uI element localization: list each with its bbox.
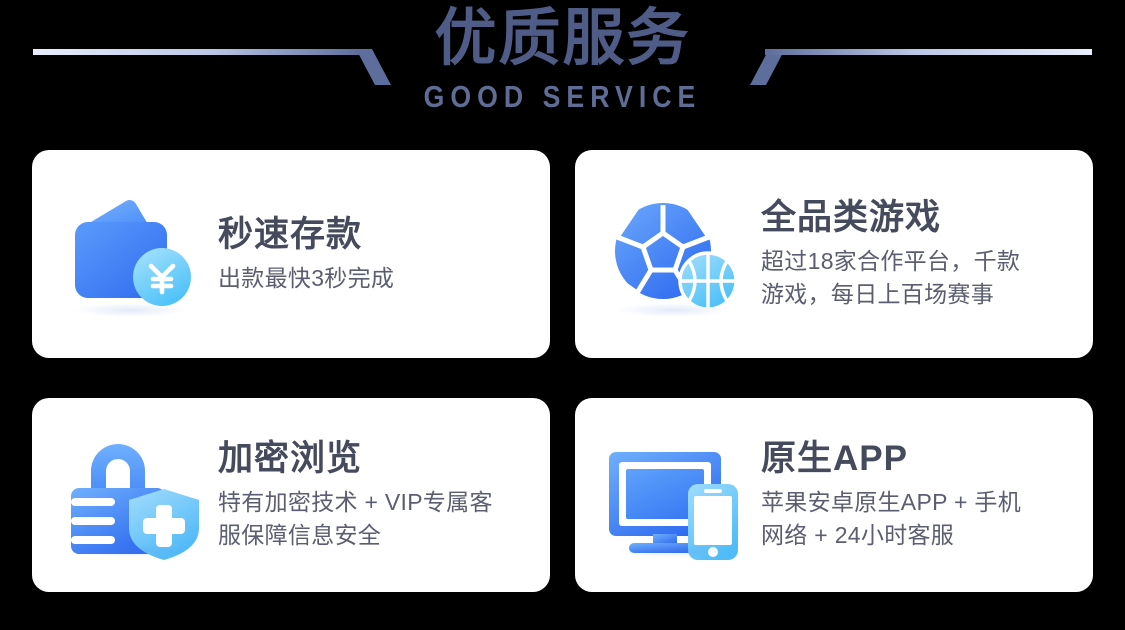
card-title: 加密浏览 [218, 438, 536, 480]
card-description: 苹果安卓原生APP + 手机 网络 + 24小时客服 [761, 486, 1079, 551]
card-description-line: 苹果安卓原生APP + 手机 [761, 486, 1079, 519]
feature-card-encrypted-browsing[interactable]: 加密浏览 特有加密技术 + VIP专属客 服保障信息安全 [32, 398, 550, 592]
card-description-line: 特有加密技术 + VIP专属客 [218, 486, 536, 519]
header-title-block: 优质服务 GOOD SERVICE [0, 6, 1125, 115]
card-description: 特有加密技术 + VIP专属客 服保障信息安全 [218, 486, 536, 551]
icon-shadow [615, 544, 731, 558]
card-description-line: 游戏，每日上百场赛事 [761, 278, 1079, 311]
icon-shadow [615, 303, 731, 317]
page-title: 优质服务 [0, 6, 1125, 73]
card-description: 出款最快3秒完成 [218, 262, 536, 295]
soccer-basketball-icon [603, 189, 753, 319]
card-title: 原生APP [761, 438, 1079, 480]
lock-shield-icon [60, 430, 210, 560]
page-header: 优质服务 GOOD SERVICE [0, 0, 1125, 150]
icon-shadow [72, 303, 188, 317]
monitor-phone-icon [603, 430, 753, 560]
card-description-line: 网络 + 24小时客服 [761, 519, 1079, 552]
card-description-line: 出款最快3秒完成 [218, 262, 536, 295]
wallet-yen-icon [60, 189, 210, 319]
feature-card-fast-deposit[interactable]: 秒速存款 出款最快3秒完成 [32, 150, 550, 358]
card-description: 超过18家合作平台，千款 游戏，每日上百场赛事 [761, 245, 1079, 310]
feature-card-all-category-games[interactable]: 全品类游戏 超过18家合作平台，千款 游戏，每日上百场赛事 [575, 150, 1093, 358]
card-text: 原生APP 苹果安卓原生APP + 手机 网络 + 24小时客服 [761, 438, 1093, 551]
page-subtitle: GOOD SERVICE [79, 79, 1047, 115]
card-title: 全品类游戏 [761, 197, 1079, 239]
card-text: 加密浏览 特有加密技术 + VIP专属客 服保障信息安全 [218, 438, 550, 551]
card-text: 全品类游戏 超过18家合作平台，千款 游戏，每日上百场赛事 [761, 197, 1093, 310]
feature-card-grid: 秒速存款 出款最快3秒完成 [32, 150, 1093, 592]
card-text: 秒速存款 出款最快3秒完成 [218, 214, 550, 295]
icon-shadow [72, 544, 188, 558]
card-description-line: 服保障信息安全 [218, 519, 536, 552]
feature-card-native-app[interactable]: 原生APP 苹果安卓原生APP + 手机 网络 + 24小时客服 [575, 398, 1093, 592]
card-description-line: 超过18家合作平台，千款 [761, 245, 1079, 278]
card-title: 秒速存款 [218, 214, 536, 256]
